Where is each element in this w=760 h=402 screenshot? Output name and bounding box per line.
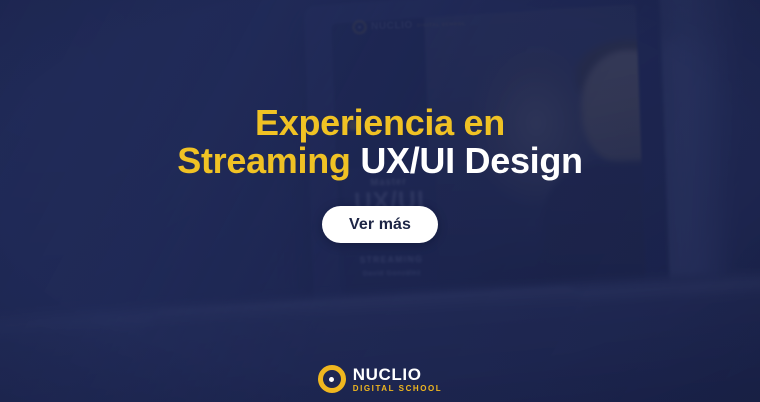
nuclio-ring-icon bbox=[318, 365, 346, 393]
promo-banner: Master UX/UI STREAMING David González NU… bbox=[0, 0, 760, 402]
headline: Experiencia en Streaming UX/UI Design bbox=[177, 104, 583, 180]
headline-design-words: UX/UI Design bbox=[360, 140, 582, 181]
headline-line-2: Streaming UX/UI Design bbox=[177, 142, 583, 180]
ver-mas-button[interactable]: Ver más bbox=[322, 206, 438, 243]
headline-uxui-word bbox=[351, 140, 361, 181]
brand-tagline: DIGITAL SCHOOL bbox=[353, 385, 442, 393]
headline-line-1: Experiencia en bbox=[177, 104, 583, 142]
banner-content: Experiencia en Streaming UX/UI Design Ve… bbox=[0, 0, 760, 402]
brand-name: NUCLIO bbox=[353, 366, 442, 383]
nuclio-wordmark: NUCLIO DIGITAL SCHOOL bbox=[353, 366, 442, 393]
nuclio-logo[interactable]: NUCLIO DIGITAL SCHOOL bbox=[0, 365, 760, 393]
headline-streaming-word: Streaming bbox=[177, 140, 350, 181]
